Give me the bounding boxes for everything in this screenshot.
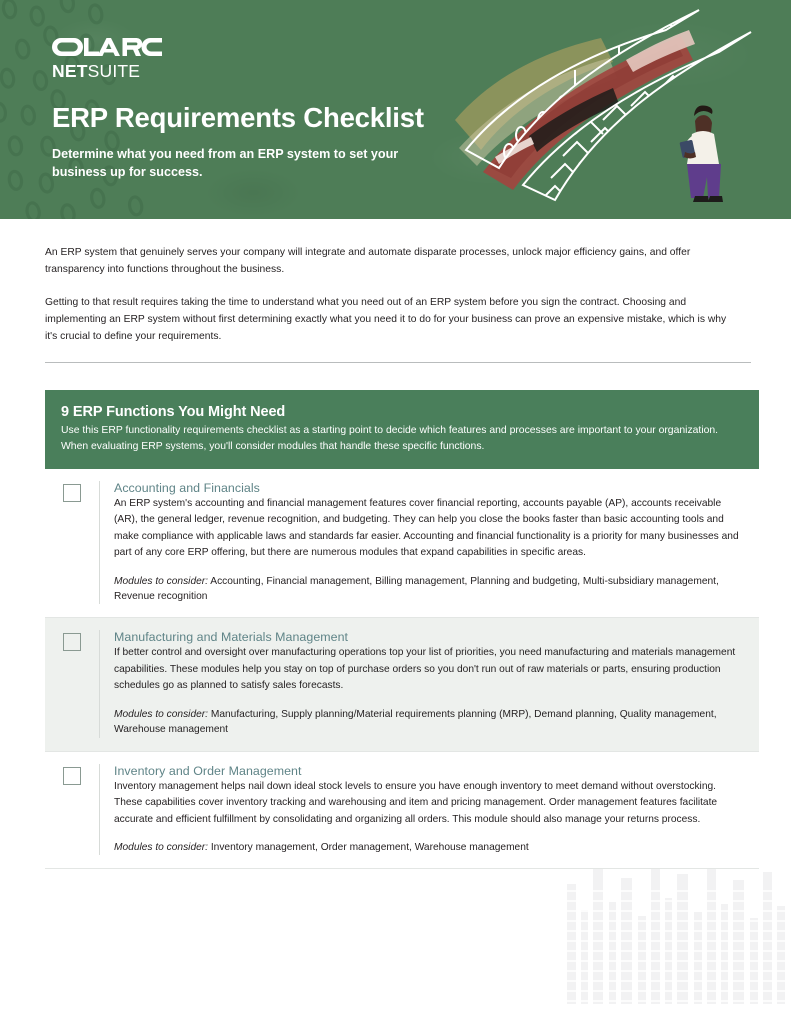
intro-paragraph-1: An ERP system that genuinely serves your…	[45, 245, 737, 278]
checkbox-cell[interactable]	[45, 481, 100, 605]
ribbon-outline-binary	[466, 10, 699, 168]
page-title: ERP Requirements Checklist	[52, 103, 424, 133]
netsuite-wordmark: NETSUITE	[52, 61, 424, 82]
section-divider	[45, 362, 751, 363]
checklist-row[interactable]: Inventory and Order Management Inventory…	[45, 752, 759, 870]
intro-section: An ERP system that genuinely serves your…	[45, 245, 737, 345]
ribbon-outline-maze	[523, 32, 751, 200]
modules-list: Inventory management, Order management, …	[208, 842, 529, 853]
checkbox-accounting-and-financials[interactable]	[63, 484, 81, 502]
netsuite-bold: NET	[52, 61, 88, 81]
checklist-header-title: 9 ERP Functions You Might Need	[61, 404, 743, 420]
checklist-item-modules: Modules to consider: Accounting, Financi…	[114, 574, 741, 605]
ribbon-cream	[459, 58, 617, 166]
person-illustration	[679, 105, 723, 202]
checklist-item-title: Inventory and Order Management	[114, 764, 741, 778]
hero-illustration	[451, 0, 791, 219]
checklist-item-description: An ERP system's accounting and financial…	[114, 496, 741, 562]
checklist-item-title: Accounting and Financials	[114, 481, 741, 495]
checklist-row-body: Manufacturing and Materials Management I…	[100, 630, 759, 737]
oracle-logo	[52, 38, 162, 57]
checklist-row-body: Inventory and Order Management Inventory…	[100, 764, 759, 856]
checklist-card: 9 ERP Functions You Might Need Use this …	[45, 390, 759, 869]
checklist-item-title: Manufacturing and Materials Management	[114, 630, 741, 644]
modules-label: Modules to consider:	[114, 709, 208, 720]
hero-banner: NETSUITE ERP Requirements Checklist Dete…	[0, 0, 791, 219]
intro-paragraph-2: Getting to that result requires taking t…	[45, 295, 737, 345]
checklist-row[interactable]: Manufacturing and Materials Management I…	[45, 618, 759, 751]
checklist-item-description: Inventory management helps nail down ide…	[114, 779, 741, 829]
checkbox-manufacturing-and-materials-management[interactable]	[63, 633, 81, 651]
checkbox-inventory-and-order-management[interactable]	[63, 767, 81, 785]
ribbon-red	[483, 36, 693, 190]
checklist-header-subtitle: Use this ERP functionality requirements …	[61, 423, 743, 453]
checklist-item-modules: Modules to consider: Manufacturing, Supp…	[114, 707, 741, 738]
checklist-item-modules: Modules to consider: Inventory managemen…	[114, 840, 741, 855]
modules-label: Modules to consider:	[114, 842, 208, 853]
netsuite-light: SUITE	[88, 61, 141, 81]
checklist-row[interactable]: Accounting and Financials An ERP system'…	[45, 469, 759, 619]
checkbox-cell[interactable]	[45, 630, 100, 737]
ribbon-pink-accent	[626, 30, 695, 72]
page-subtitle: Determine what you need from an ERP syst…	[52, 146, 412, 182]
checklist-header: 9 ERP Functions You Might Need Use this …	[45, 390, 759, 468]
checklist-row-body: Accounting and Financials An ERP system'…	[100, 481, 759, 605]
ribbon-black-accent	[529, 88, 619, 152]
ribbon-light-stripe	[495, 137, 534, 164]
watermark-decoration	[561, 844, 791, 1024]
modules-label: Modules to consider:	[114, 576, 208, 587]
ribbon-tan	[455, 38, 613, 150]
checklist-item-description: If better control and oversight over man…	[114, 645, 741, 695]
ribbon-red-dark	[491, 44, 683, 178]
checkbox-cell[interactable]	[45, 764, 100, 856]
